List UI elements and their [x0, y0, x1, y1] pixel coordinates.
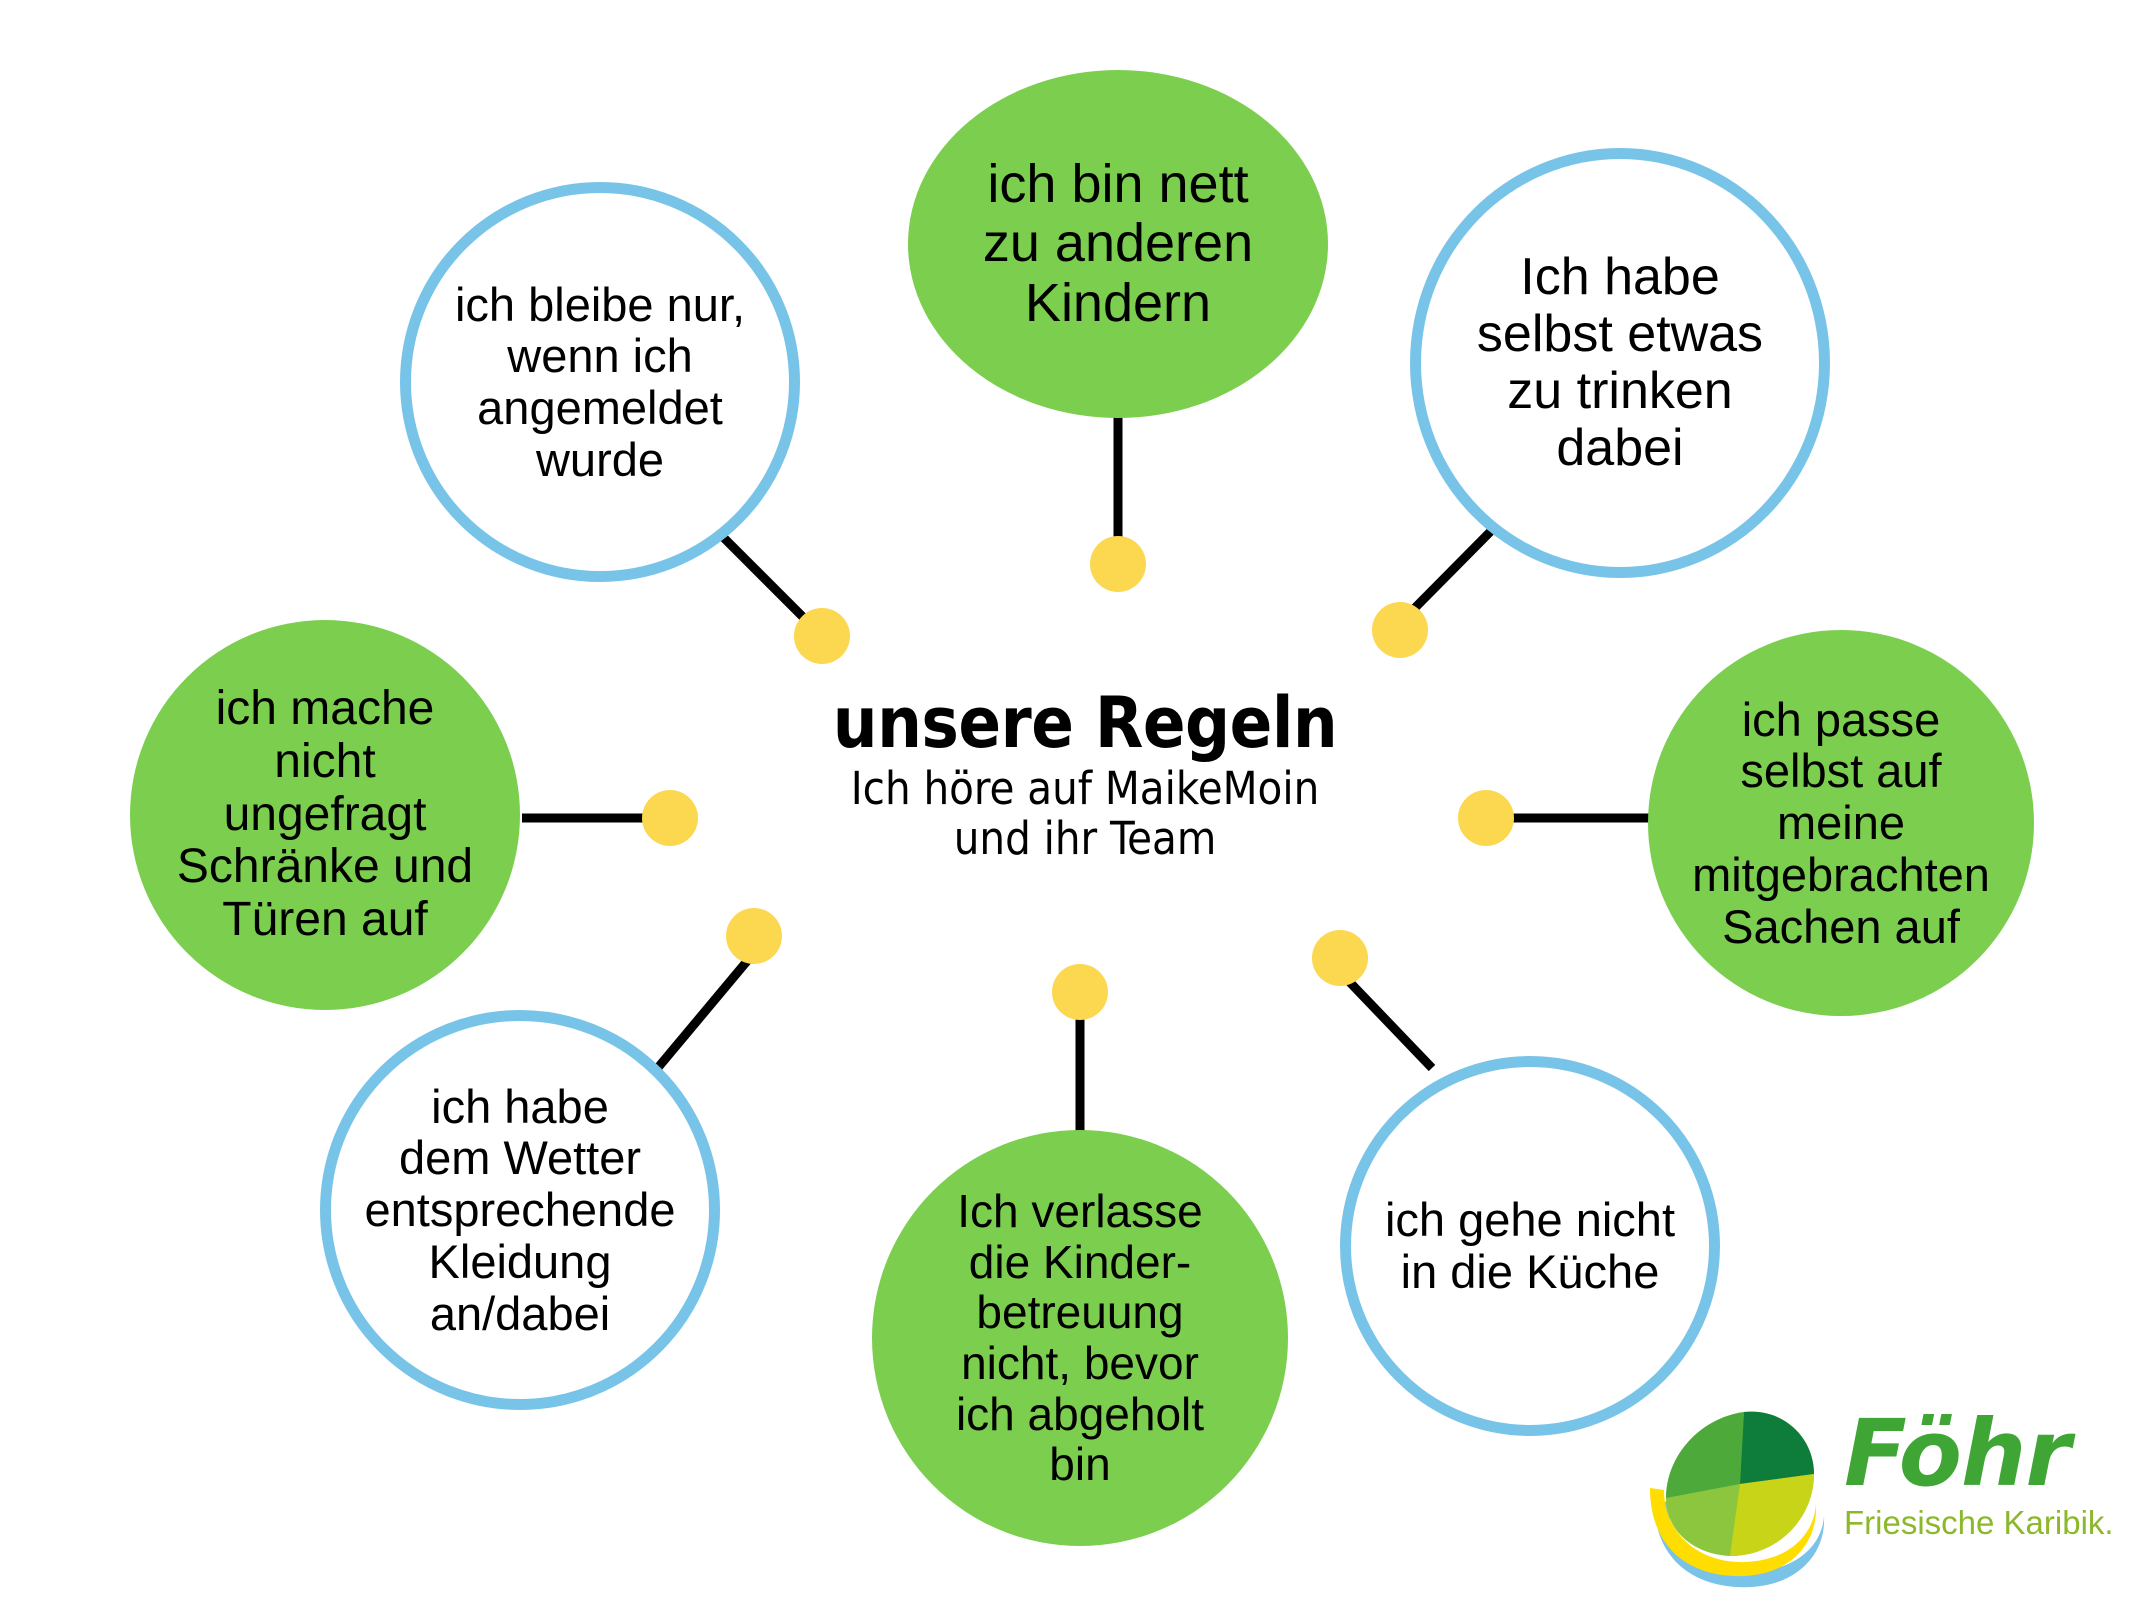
- diagram-canvas: ich bleibe nur, wenn ich angemeldet wurd…: [0, 0, 2134, 1600]
- node-trinken[interactable]: Ich habe selbst etwas zu trinken dabei: [1410, 148, 1830, 578]
- node-kueche-label: ich gehe nicht in die Küche: [1351, 1194, 1709, 1297]
- foehr-logo: Föhr Friesische Karibik.: [1648, 1404, 2118, 1590]
- node-sachen[interactable]: ich passe selbst auf meine mitgebrachten…: [1648, 630, 2034, 1016]
- foehr-island-leaf-icon: [1648, 1404, 1844, 1590]
- edge-kleidung: [656, 948, 758, 1070]
- node-kleidung[interactable]: ich habe dem Wetter entsprechende Kleidu…: [320, 1010, 720, 1410]
- node-nett[interactable]: ich bin nett zu anderen Kindern: [908, 70, 1328, 418]
- node-kueche[interactable]: ich gehe nicht in die Küche: [1340, 1056, 1720, 1436]
- node-schraenke-label: ich mache nicht ungefragt Schränke und T…: [130, 683, 520, 947]
- logo-name: Föhr: [1844, 1408, 2124, 1500]
- center-node: unsere Regeln Ich höre auf MaikeMoin und…: [690, 688, 1480, 865]
- connector-dot-kleidung[interactable]: [726, 908, 782, 964]
- center-subtitle: Ich höre auf MaikeMoin und ihr Team: [690, 764, 1480, 865]
- logo-wordmark: Föhr Friesische Karibik.: [1844, 1408, 2124, 1539]
- logo-tagline: Friesische Karibik.: [1844, 1506, 2124, 1539]
- node-schraenke[interactable]: ich mache nicht ungefragt Schränke und T…: [130, 620, 520, 1010]
- node-trinken-label: Ich habe selbst etwas zu trinken dabei: [1421, 249, 1819, 478]
- edge-kueche: [1340, 972, 1432, 1068]
- connector-dot-schraenke[interactable]: [642, 790, 698, 846]
- node-kleidung-label: ich habe dem Wetter entsprechende Kleidu…: [331, 1081, 709, 1339]
- node-abgeholt[interactable]: Ich verlasse die Kinder- betreuung nicht…: [872, 1130, 1288, 1546]
- connector-dot-kueche[interactable]: [1312, 930, 1368, 986]
- ring-notch-kueche: [1648, 1320, 1674, 1346]
- connector-dot-sachen[interactable]: [1458, 790, 1514, 846]
- node-nett-label: ich bin nett zu anderen Kindern: [908, 155, 1328, 333]
- connector-dot-abgeholt[interactable]: [1052, 964, 1108, 1020]
- page-title: unsere Regeln: [690, 688, 1480, 758]
- connector-dot-trinken[interactable]: [1372, 602, 1428, 658]
- node-abgeholt-label: Ich verlasse die Kinder- betreuung nicht…: [872, 1186, 1288, 1490]
- node-angemeldet-label: ich bleibe nur, wenn ich angemeldet wurd…: [411, 279, 789, 486]
- connector-dot-angemeldet[interactable]: [794, 608, 850, 664]
- connector-dot-nett[interactable]: [1090, 536, 1146, 592]
- node-sachen-label: ich passe selbst auf meine mitgebrachten…: [1648, 694, 2034, 952]
- node-angemeldet[interactable]: ich bleibe nur, wenn ich angemeldet wurd…: [400, 182, 800, 582]
